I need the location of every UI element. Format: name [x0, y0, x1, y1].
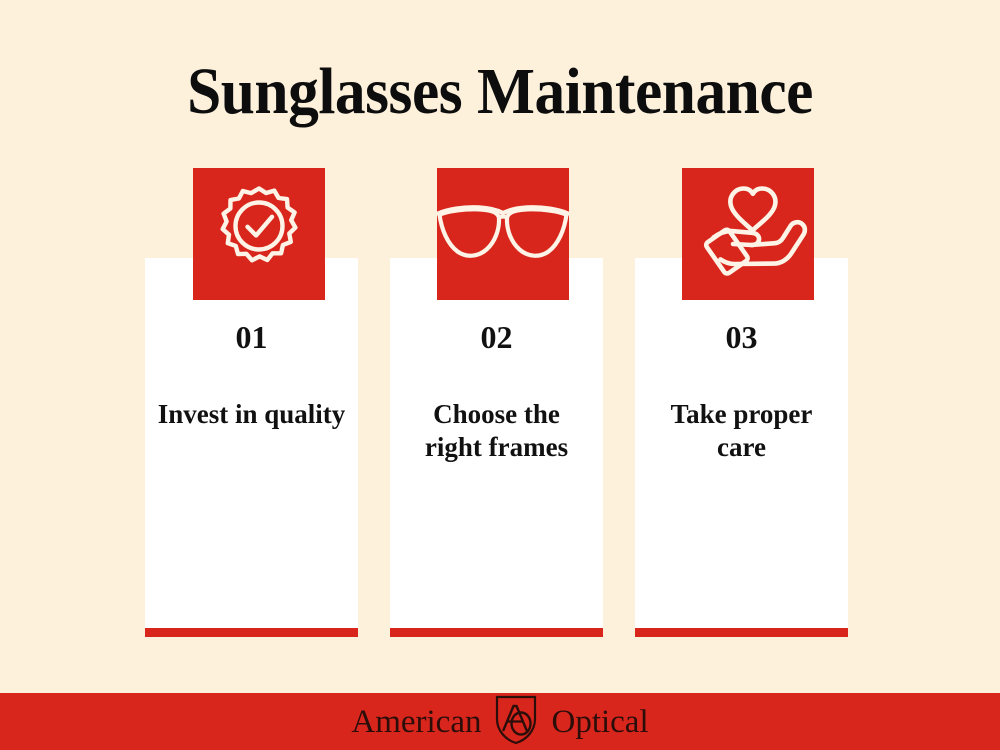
- footer-brand-second: Optical: [551, 704, 648, 740]
- card-label: Take proper care: [647, 398, 836, 464]
- footer-brand-lockup: American Optical: [0, 693, 1000, 750]
- card-03: 03 Take proper care: [635, 258, 848, 637]
- card-01-icon-tile: [193, 168, 325, 300]
- card-label: Choose the right frames: [402, 398, 591, 464]
- card-number: 03: [635, 320, 848, 354]
- card-accent-bar: [145, 628, 358, 637]
- card-02: 02 Choose the right frames: [390, 258, 603, 637]
- card-02-icon-tile: [437, 168, 569, 300]
- card-accent-bar: [635, 628, 848, 637]
- ao-shield-monogram-icon: [494, 695, 538, 745]
- footer-band: American Optical: [0, 693, 1000, 750]
- quality-badge-check-icon: [193, 168, 325, 300]
- aviator-sunglasses-icon: [437, 168, 569, 300]
- card-accent-bar: [390, 628, 603, 637]
- footer-brand-first: American: [351, 704, 481, 740]
- page-title: Sunglasses Maintenance: [35, 55, 965, 129]
- infographic-canvas: Sunglasses Maintenance 01 Invest in qual…: [0, 0, 1000, 750]
- card-01: 01 Invest in quality: [145, 258, 358, 637]
- card-number: 01: [145, 320, 358, 354]
- card-03-icon-tile: [682, 168, 814, 300]
- card-label: Invest in quality: [157, 398, 346, 431]
- hand-holding-heart-icon: [682, 168, 814, 300]
- card-number: 02: [390, 320, 603, 354]
